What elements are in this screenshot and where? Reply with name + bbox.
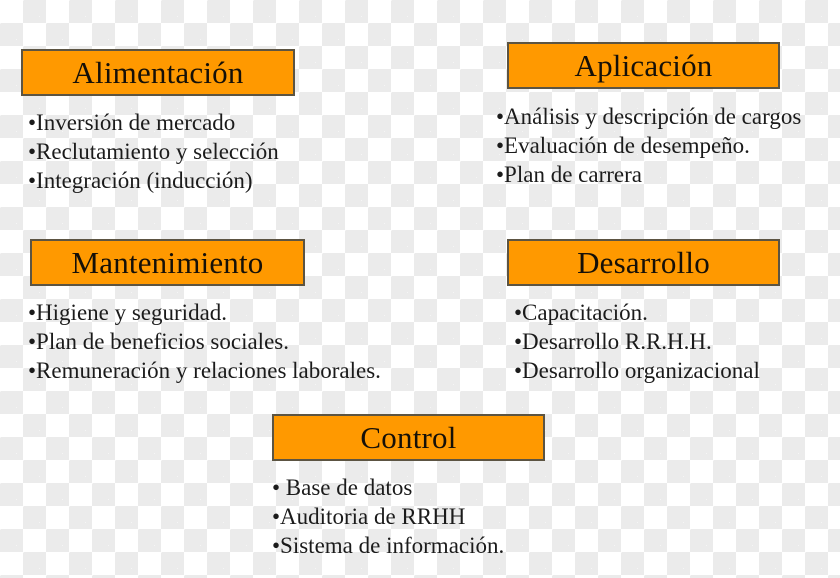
diagram-canvas: Alimentación •Inversión de mercado •Recl… [0,0,840,578]
list-item: •Capacitación. [514,298,760,327]
node-box-desarrollo[interactable]: Desarrollo [507,239,780,286]
node-title-aplicacion: Aplicación [574,50,712,81]
bullet-list-mantenimiento: •Higiene y seguridad. •Plan de beneficio… [28,298,381,385]
list-item: •Integración (inducción) [28,166,279,195]
node-box-alimentacion[interactable]: Alimentación [21,49,295,96]
node-title-desarrollo: Desarrollo [577,247,710,278]
list-item: •Evaluación de desempeño. [496,131,801,160]
list-item: •Plan de beneficios sociales. [28,327,381,356]
list-item: •Inversión de mercado [28,108,279,137]
list-item: •Desarrollo R.R.H.H. [514,327,760,356]
node-box-mantenimiento[interactable]: Mantenimiento [30,239,305,286]
list-item: •Desarrollo organizacional [514,356,760,385]
bullet-list-aplicacion: •Análisis y descripción de cargos •Evalu… [496,102,801,189]
node-box-aplicacion[interactable]: Aplicación [507,42,780,89]
list-item: •Higiene y seguridad. [28,298,381,327]
node-title-alimentacion: Alimentación [72,57,243,88]
bullet-list-alimentacion: •Inversión de mercado •Reclutamiento y s… [28,108,279,195]
list-item: •Reclutamiento y selección [28,137,279,166]
node-title-mantenimiento: Mantenimiento [71,247,263,278]
list-item: •Sistema de información. [272,531,504,560]
bullet-list-control: • Base de datos •Auditoria de RRHH •Sist… [272,473,504,560]
bullet-list-desarrollo: •Capacitación. •Desarrollo R.R.H.H. •Des… [514,298,760,385]
list-item: • Base de datos [272,473,504,502]
list-item: •Remuneración y relaciones laborales. [28,356,381,385]
node-title-control: Control [360,422,456,453]
list-item: •Plan de carrera [496,160,801,189]
list-item: •Análisis y descripción de cargos [496,102,801,131]
node-box-control[interactable]: Control [272,414,545,461]
list-item: •Auditoria de RRHH [272,502,504,531]
